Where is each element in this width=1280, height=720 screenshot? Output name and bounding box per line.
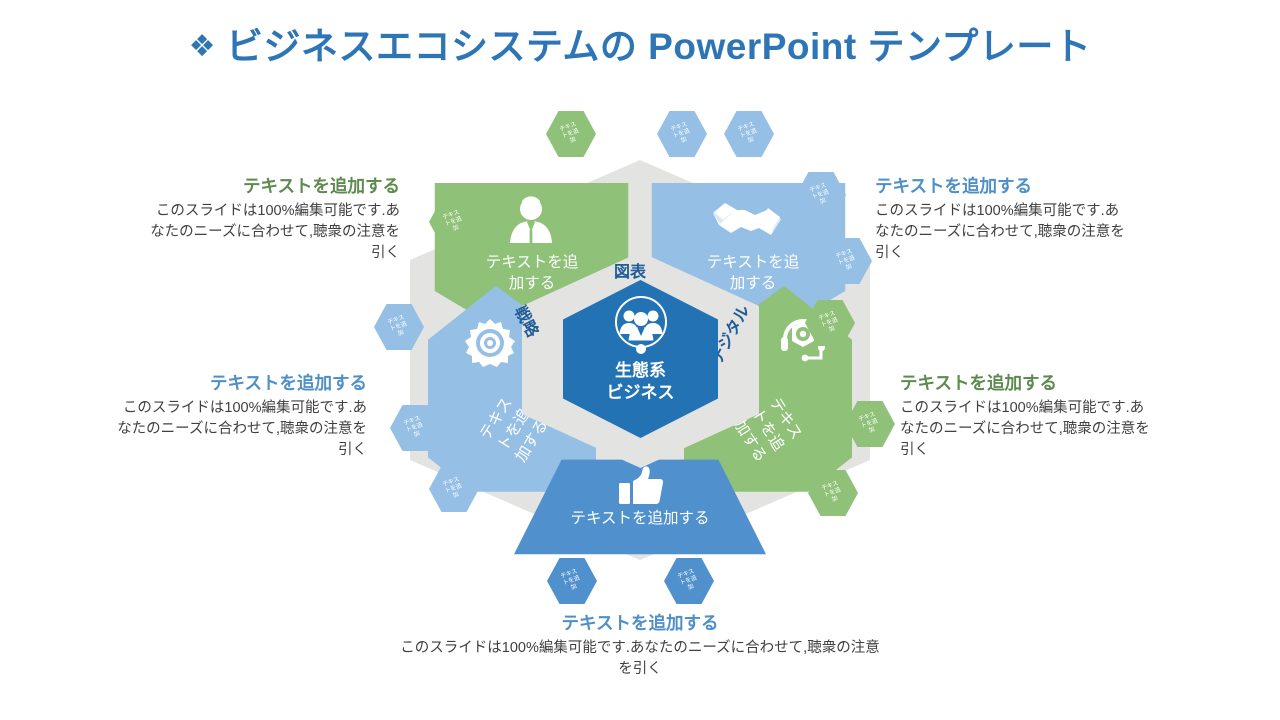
satellite-hexagon-label: テキス トを追 加 xyxy=(387,314,410,339)
text-block-top-left-body: このスライドは100%編集可能です.あなたのニーズに合わせて,聴衆の注意を引く xyxy=(145,201,400,264)
text-block-bottom: テキストを追加する このスライドは100%編集可能です.あなたのニーズに合わせて… xyxy=(400,612,880,680)
diamond-bullet-icon: ❖ xyxy=(189,30,216,63)
text-block-mid-right-heading: テキストを追加する xyxy=(900,372,1155,395)
satellite-hexagon-label: テキス トを追 加 xyxy=(442,476,465,501)
ecosystem-diagram: テキストを追 加する テキストを追 加する テキ xyxy=(0,95,1280,620)
core-title: 生態系 ビジネス xyxy=(563,360,718,404)
satellite-hexagon-label: テキス トを追 加 xyxy=(818,310,841,335)
text-block-bottom-body: このスライドは100%編集可能です.あなたのニーズに合わせて,聴衆の注意を引く xyxy=(400,638,880,680)
satellite-hexagon-label: テキス トを追 加 xyxy=(737,121,760,146)
text-block-mid-right-body: このスライドは100%編集可能です.あなたのニーズに合わせて,聴衆の注意を引く xyxy=(900,398,1155,461)
people-group-icon xyxy=(610,295,672,362)
satellite-hexagon-label: テキス トを追 加 xyxy=(442,209,465,234)
satellite-hexagon[interactable]: テキス トを追 加 xyxy=(547,558,597,604)
text-block-mid-left: テキストを追加する このスライドは100%編集可能です.あなたのニーズに合わせて… xyxy=(112,372,367,461)
handshake-icon xyxy=(711,197,783,250)
satellite-hexagon-label: テキス トを追 加 xyxy=(559,121,582,146)
satellite-hexagon-label: テキス トを追 加 xyxy=(858,411,881,436)
text-block-top-left-heading: テキストを追加する xyxy=(145,175,400,198)
text-block-bottom-heading: テキストを追加する xyxy=(400,612,880,635)
business-person-icon xyxy=(502,195,560,252)
text-block-top-right: テキストを追加する このスライドは100%編集可能です.あなたのニーズに合わせて… xyxy=(875,175,1130,264)
satellite-hexagon[interactable]: テキス トを追 加 xyxy=(664,558,714,604)
petal-bottom-label: テキストを追加する xyxy=(530,509,750,530)
satellite-hexagon-label: テキス トを追 加 xyxy=(403,415,426,440)
text-block-mid-right: テキストを追加する このスライドは100%編集可能です.あなたのニーズに合わせて… xyxy=(900,372,1155,461)
satellite-hexagon-label: テキス トを追 加 xyxy=(670,121,693,146)
thumbs-up-icon xyxy=(618,465,664,512)
satellite-hexagon[interactable]: テキス トを追 加 xyxy=(724,111,774,157)
satellite-hexagon[interactable]: テキス トを追 加 xyxy=(546,111,596,157)
text-block-mid-left-heading: テキストを追加する xyxy=(112,372,367,395)
page-title-text: ビジネスエコシステムの PowerPoint テンプレート xyxy=(226,26,1091,67)
page-title: ❖ビジネスエコシステムの PowerPoint テンプレート xyxy=(0,16,1280,70)
satellite-hexagon-label: テキス トを追 加 xyxy=(677,568,700,593)
petal-bottom[interactable]: テキストを追加する xyxy=(500,453,780,563)
satellite-hexagon-label: テキス トを追 加 xyxy=(821,480,844,505)
text-block-top-left: テキストを追加する このスライドは100%編集可能です.あなたのニーズに合わせて… xyxy=(145,175,400,264)
text-block-top-right-body: このスライドは100%編集可能です.あなたのニーズに合わせて,聴衆の注意を引く xyxy=(875,201,1130,264)
satellite-hexagon-label: テキス トを追 加 xyxy=(560,568,583,593)
satellite-hexagon[interactable]: テキス トを追 加 xyxy=(657,111,707,157)
gear-target-icon xyxy=(464,317,516,374)
satellite-hexagon-label: テキス トを追 加 xyxy=(835,248,858,273)
ring-label-top: 図表 xyxy=(614,258,646,282)
text-block-mid-left-body: このスライドは100%編集可能です.あなたのニーズに合わせて,聴衆の注意を引く xyxy=(112,398,367,461)
text-block-top-right-heading: テキストを追加する xyxy=(875,175,1130,198)
satellite-hexagon-label: テキス トを追 加 xyxy=(809,182,832,207)
